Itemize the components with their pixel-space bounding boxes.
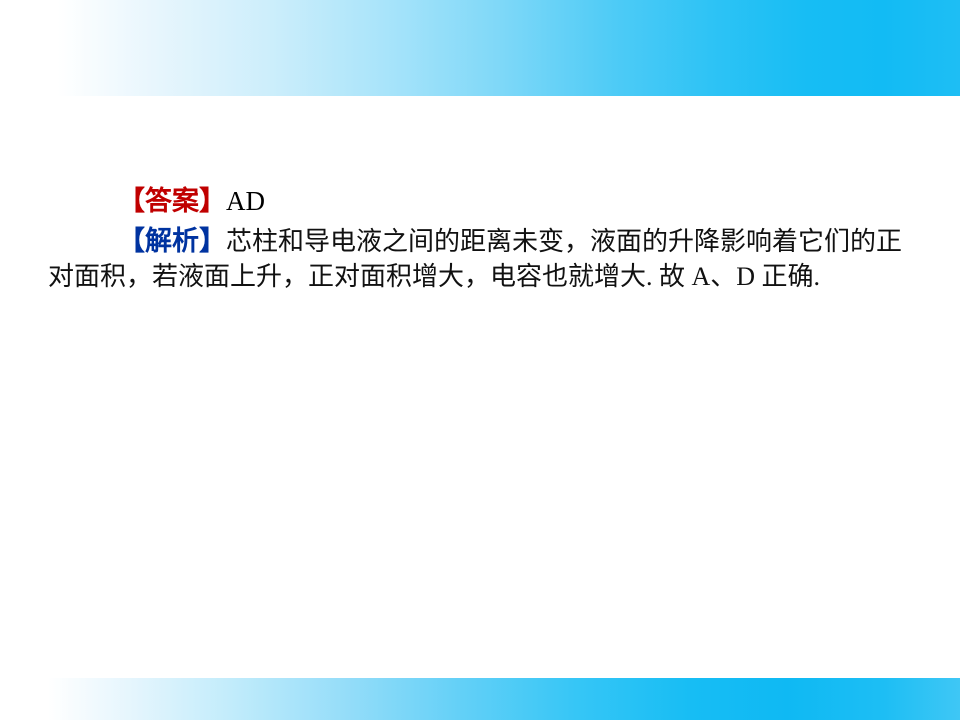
analysis-indent xyxy=(48,226,118,256)
answer-label: 【答案】 xyxy=(118,186,226,216)
slide-canvas: 【答案】AD 【解析】芯柱和导电液之间的距离未变，液面的升降影响着它们的正对面积… xyxy=(0,0,960,720)
answer-value: AD xyxy=(226,186,265,216)
bottom-decorative-band xyxy=(0,678,960,720)
answer-line: 【答案】AD xyxy=(118,184,265,218)
analysis-block: 【解析】芯柱和导电液之间的距离未变，液面的升降影响着它们的正对面积，若液面上升，… xyxy=(48,224,920,294)
slide-content: 【答案】AD 【解析】芯柱和导电液之间的距离未变，液面的升降影响着它们的正对面积… xyxy=(0,96,960,678)
analysis-label: 【解析】 xyxy=(118,226,226,256)
top-decorative-band xyxy=(0,0,960,96)
